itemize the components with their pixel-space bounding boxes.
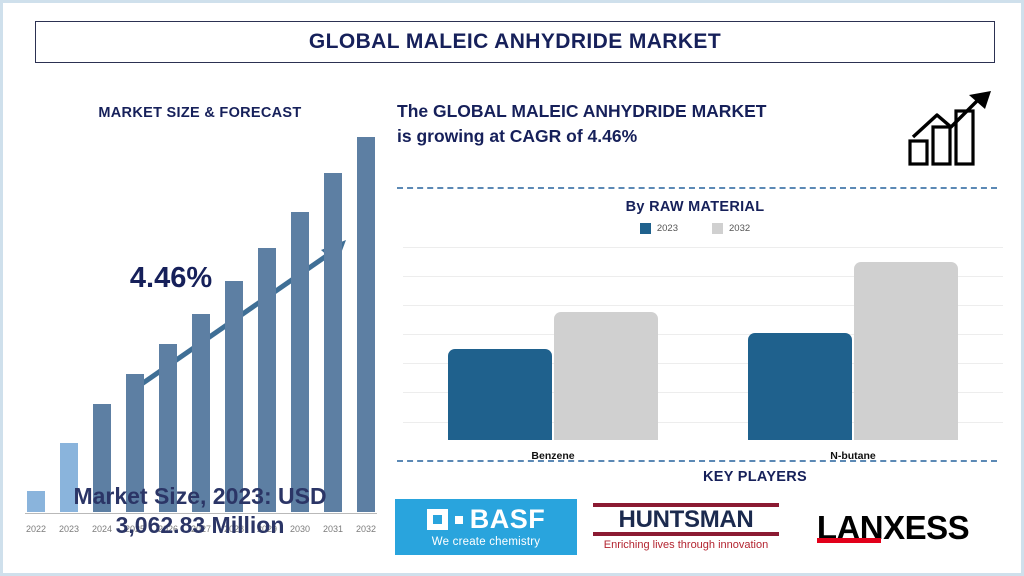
page-title: GLOBAL MALEIC ANHYDRIDE MARKET	[309, 30, 721, 54]
legend-item-2032: 2032	[712, 223, 750, 234]
legend-label-2023: 2023	[657, 223, 678, 234]
basf-tagline: We create chemistry	[432, 536, 540, 548]
market-size-line-2: 3,062.83 Million	[116, 512, 285, 538]
raw-material-bars	[403, 262, 1003, 440]
bar-chart-growth-icon	[907, 89, 997, 167]
legend-swatch-2032	[712, 223, 723, 234]
market-size-forecast-panel: MARKET SIZE & FORECAST 4.46%	[11, 87, 389, 571]
legend-label-2032: 2032	[729, 223, 750, 234]
market-size-line-1: Market Size, 2023: USD	[73, 483, 326, 509]
gridline	[403, 247, 1003, 248]
raw-material-heading: By RAW MATERIAL	[395, 199, 995, 215]
growth-statement: The GLOBAL MALEIC ANHYDRIDE MARKET is gr…	[397, 99, 887, 149]
legend-swatch-2023	[640, 223, 651, 234]
divider-top	[397, 187, 997, 189]
bar-n-butane-2023	[748, 333, 852, 440]
bar-2030	[291, 212, 309, 512]
divider-bottom	[397, 460, 997, 462]
logo-basf: BASF We create chemistry	[395, 499, 577, 555]
huntsman-wordmark: HUNTSMAN	[593, 507, 779, 532]
bar-2028	[225, 281, 243, 512]
market-size-value: Market Size, 2023: USD 3,062.83 Million	[11, 482, 389, 541]
bar-group-benzene	[448, 262, 658, 440]
bar-group-n-butane	[748, 262, 958, 440]
raw-material-bar-chart: Benzene N-butane	[403, 245, 1003, 440]
legend-item-2023: 2023	[640, 223, 678, 234]
page-title-box: GLOBAL MALEIC ANHYDRIDE MARKET	[35, 21, 995, 63]
market-size-forecast-heading: MARKET SIZE & FORECAST	[11, 105, 389, 121]
market-size-bars	[25, 212, 377, 512]
growth-statement-line-2: is growing at CAGR of 4.46%	[397, 126, 637, 146]
bar-n-butane-2032	[854, 262, 958, 440]
basf-logo-row: BASF	[427, 506, 546, 533]
huntsman-tagline: Enriching lives through innovation	[593, 539, 779, 551]
basf-dot-icon	[455, 516, 463, 524]
bar-benzene-2032	[554, 312, 658, 440]
logo-lanxess: LANXESS	[795, 501, 991, 553]
key-players-heading: KEY PLAYERS	[605, 469, 905, 485]
bar-benzene-2023	[448, 349, 552, 440]
bar-2032	[357, 137, 375, 512]
huntsman-rule-bottom	[593, 532, 779, 536]
logo-huntsman: HUNTSMAN Enriching lives through innovat…	[593, 498, 779, 556]
key-players-logos: BASF We create chemistry HUNTSMAN Enrich…	[395, 491, 1019, 563]
infographic-page: GLOBAL MALEIC ANHYDRIDE MARKET MARKET SI…	[0, 0, 1024, 576]
bar-2031	[324, 173, 342, 512]
basf-square-inner	[433, 515, 442, 524]
basf-wordmark: BASF	[470, 506, 546, 533]
growth-statement-line-1: The GLOBAL MALEIC ANHYDRIDE MARKET	[397, 101, 766, 121]
raw-material-legend: 2023 2032	[395, 223, 995, 234]
lanxess-wordmark: LANXESS	[817, 511, 969, 544]
right-panel: The GLOBAL MALEIC ANHYDRIDE MARKET is gr…	[395, 87, 1019, 571]
basf-square-icon	[427, 509, 448, 530]
lanxess-underline	[817, 538, 881, 543]
bar-2029	[258, 248, 276, 512]
